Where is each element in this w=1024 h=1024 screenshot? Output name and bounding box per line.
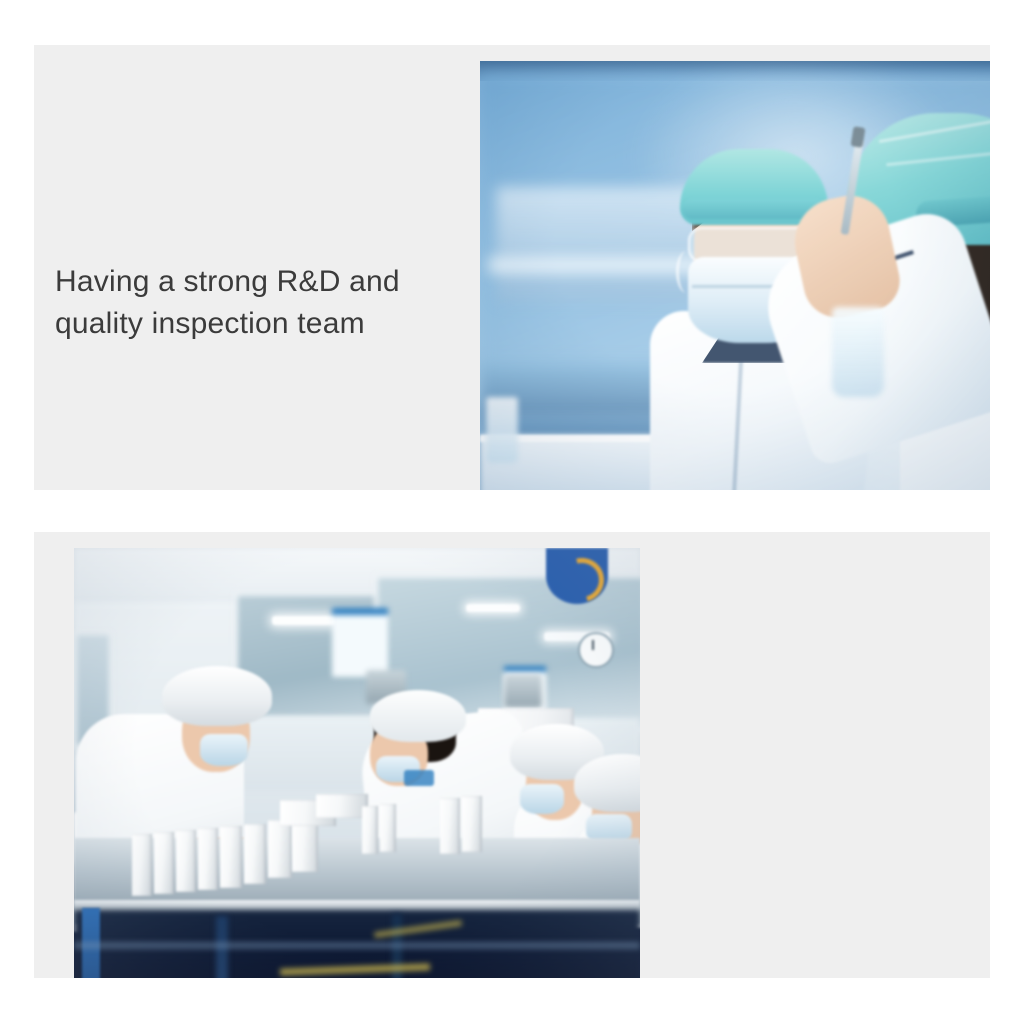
warehouse-photo-vignette <box>74 548 640 978</box>
lab-photo-vignette <box>480 61 990 490</box>
caption-line-1: Having a strong R&D and <box>55 261 400 303</box>
warehouse-packing-photo <box>74 548 640 978</box>
lab-technicians-photo <box>480 61 990 490</box>
rd-quality-panel: Having a strong R&D and quality inspecti… <box>34 45 990 490</box>
page-root: Having a strong R&D and quality inspecti… <box>0 0 1024 1024</box>
caption-line-2: quality inspection team <box>55 303 400 345</box>
warehouse-panel: a warehouse distribution area a warehous… <box>34 532 990 978</box>
rd-quality-caption: Having a strong R&D and quality inspecti… <box>55 261 400 345</box>
